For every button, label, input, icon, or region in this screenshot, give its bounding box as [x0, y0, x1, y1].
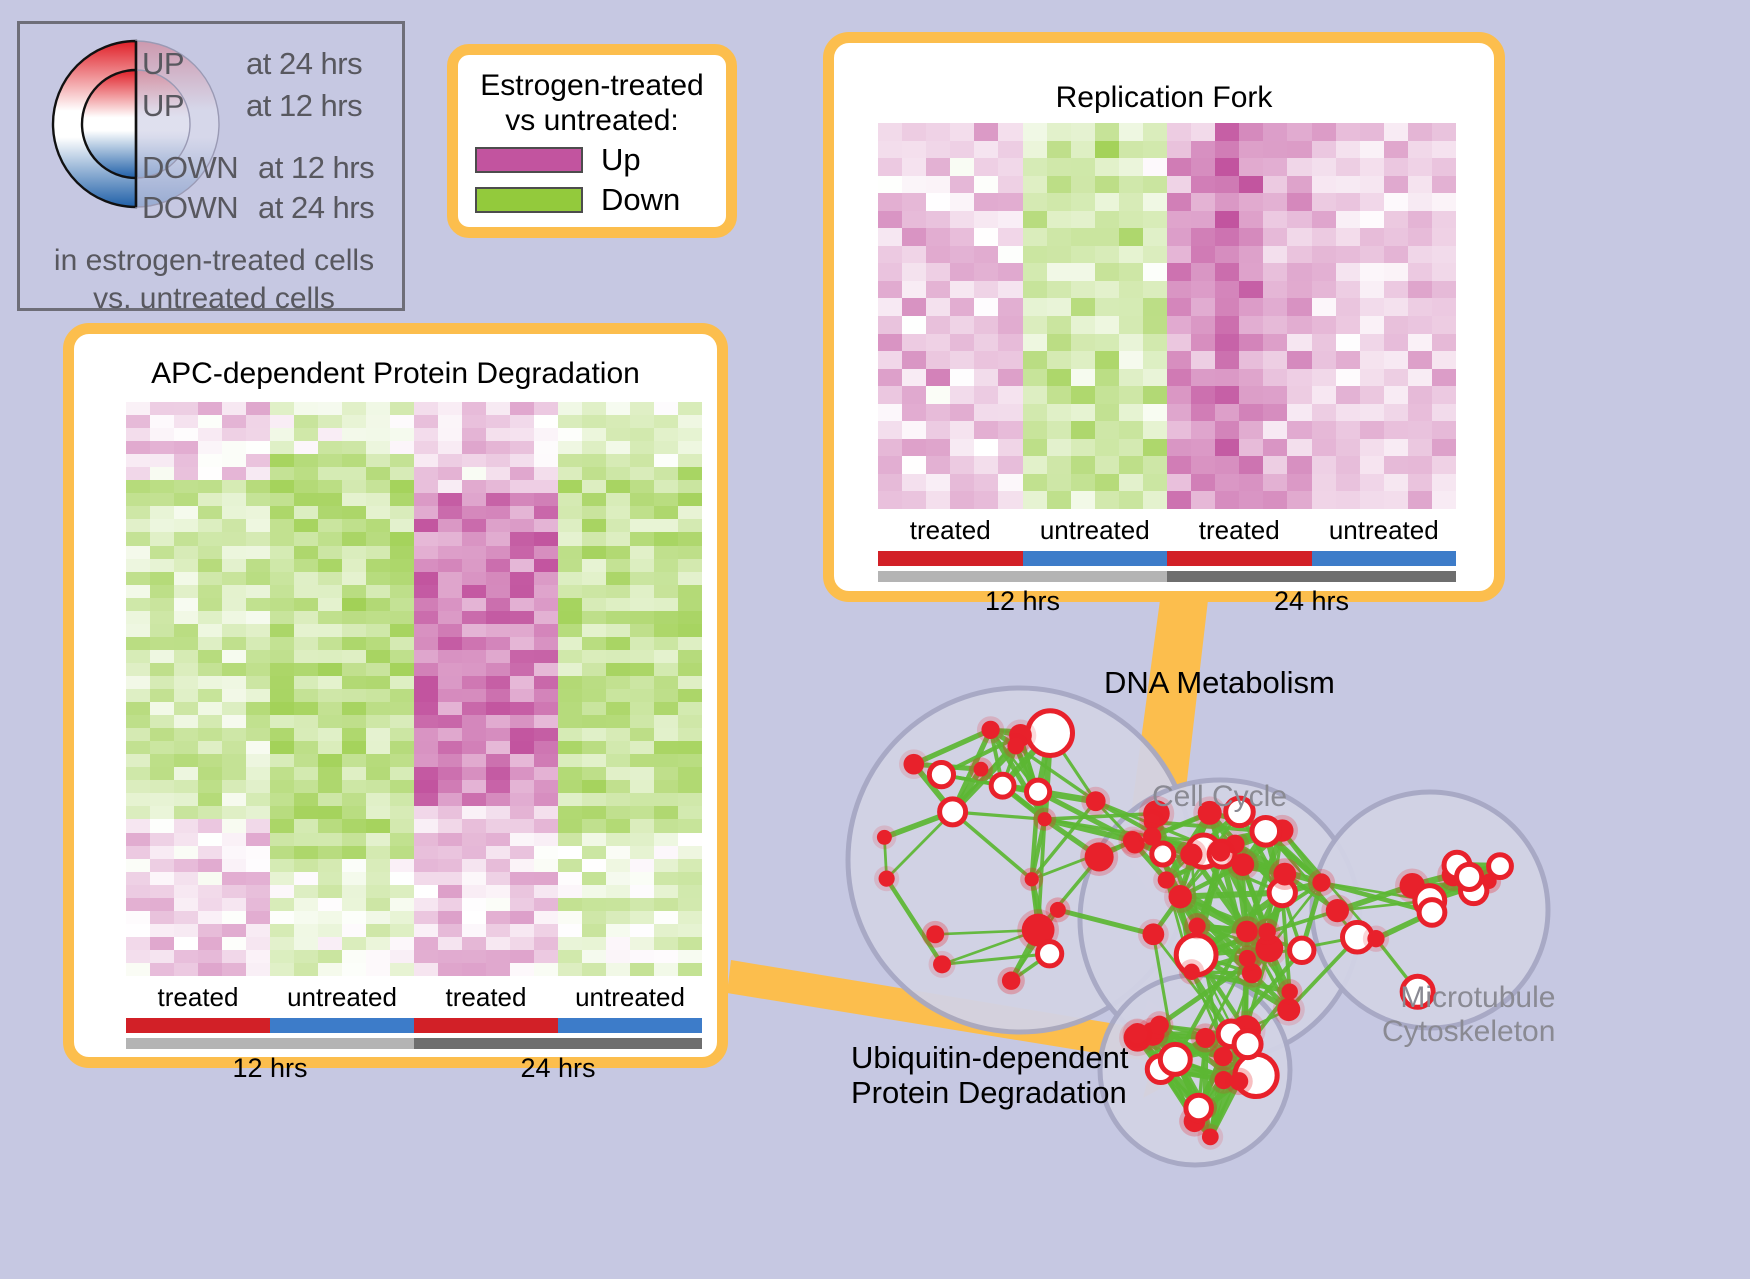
- apc-bar-treated-12: [126, 1018, 270, 1033]
- heatmap-cell: [174, 702, 198, 715]
- heatmap-cell: [390, 754, 414, 767]
- heatmap-cell: [270, 546, 294, 559]
- network-node-hollow[interactable]: [1186, 1095, 1212, 1121]
- heatmap-cell: [462, 819, 486, 832]
- heatmap-cell: [342, 859, 366, 872]
- heatmap-cell: [1408, 421, 1432, 439]
- ring-row-2-direction: DOWN: [142, 150, 238, 186]
- heatmap-cell: [510, 663, 534, 676]
- heatmap-cell: [198, 898, 222, 911]
- heatmap-cell: [950, 369, 974, 387]
- heatmap-cell: [486, 950, 510, 963]
- heatmap-cell: [926, 421, 950, 439]
- heatmap-cell: [1432, 193, 1456, 211]
- heatmap-cell: [998, 246, 1022, 264]
- heatmap-cell: [438, 754, 462, 767]
- heatmap-cell: [1023, 474, 1047, 492]
- heatmap-cell: [1360, 386, 1384, 404]
- network-node-hollow[interactable]: [991, 774, 1014, 797]
- heatmap-cell: [486, 885, 510, 898]
- heatmap-cell: [558, 702, 582, 715]
- heatmap-cell: [998, 456, 1022, 474]
- network-node[interactable]: [1258, 923, 1276, 941]
- heatmap-cell: [630, 872, 654, 885]
- heatmap-cell: [222, 415, 246, 428]
- heatmap-cell: [390, 689, 414, 702]
- heatmap-cell: [606, 402, 630, 415]
- heatmap-cell: [582, 754, 606, 767]
- network-node[interactable]: [1195, 1028, 1215, 1048]
- network-node-hollow[interactable]: [1290, 938, 1314, 962]
- network-node-hollow[interactable]: [1027, 780, 1050, 803]
- heatmap-cell: [630, 963, 654, 976]
- heatmap-cell: [342, 611, 366, 624]
- heatmap-cell: [510, 937, 534, 950]
- heatmap-cell: [486, 402, 510, 415]
- heatmap-cell: [630, 859, 654, 872]
- heatmap-cell: [534, 846, 558, 859]
- network-node[interactable]: [1002, 971, 1020, 989]
- heatmap-cell: [414, 872, 438, 885]
- heatmap-cell: [390, 780, 414, 793]
- heatmap-cell: [1336, 404, 1360, 422]
- heatmap-cell: [174, 428, 198, 441]
- network-node[interactable]: [1007, 738, 1024, 755]
- network-node-hollow[interactable]: [1038, 942, 1062, 966]
- heatmap-cell: [1191, 176, 1215, 194]
- heatmap-cell: [1384, 456, 1408, 474]
- heatmap-cell: [1071, 298, 1095, 316]
- network-node[interactable]: [1142, 923, 1164, 945]
- heatmap-cell: [342, 467, 366, 480]
- heatmap-cell: [462, 415, 486, 428]
- heatmap-cell: [1263, 491, 1287, 509]
- heatmap-cell: [1336, 123, 1360, 141]
- heatmap-cell: [270, 898, 294, 911]
- heatmap-cell: [318, 454, 342, 467]
- apc-time-label-24: 24 hrs: [414, 1053, 702, 1084]
- heatmap-cell: [462, 702, 486, 715]
- heatmap-cell: [198, 689, 222, 702]
- heatmap-cell: [1263, 123, 1287, 141]
- heatmap-cell: [294, 911, 318, 924]
- heatmap-cell: [1360, 193, 1384, 211]
- heatmap-cell: [1408, 334, 1432, 352]
- heatmap-cell: [366, 624, 390, 637]
- heatmap-cell: [1287, 439, 1311, 457]
- heatmap-cell: [1312, 158, 1336, 176]
- heatmap-cell: [318, 898, 342, 911]
- heatmap-cell: [678, 532, 702, 545]
- heatmap-cell: [1191, 404, 1215, 422]
- heatmap-cell: [1287, 421, 1311, 439]
- heatmap-cell: [318, 598, 342, 611]
- network-node[interactable]: [877, 830, 892, 845]
- heatmap-cell: [198, 480, 222, 493]
- heatmap-cell: [246, 924, 270, 937]
- heatmap-cell: [1239, 141, 1263, 159]
- heatmap-cell: [534, 402, 558, 415]
- heatmap-cell: [198, 637, 222, 650]
- heatmap-cell: [1215, 491, 1239, 509]
- heatmap-cell: [438, 454, 462, 467]
- heatmap-cell: [318, 637, 342, 650]
- heatmap-cell: [126, 741, 150, 754]
- heatmap-cell: [198, 741, 222, 754]
- heatmap-cell: [414, 480, 438, 493]
- heatmap-cell: [630, 767, 654, 780]
- network-node[interactable]: [1312, 873, 1330, 891]
- heatmap-cell: [462, 637, 486, 650]
- heatmap-cell: [878, 456, 902, 474]
- network-node[interactable]: [1127, 1023, 1148, 1044]
- heatmap-cell: [1023, 176, 1047, 194]
- heatmap-cell: [630, 559, 654, 572]
- heatmap-cell: [1239, 316, 1263, 334]
- heatmap-cell: [318, 650, 342, 663]
- heatmap-cell: [558, 937, 582, 950]
- heatmap-cell: [1360, 474, 1384, 492]
- heatmap-cell: [1239, 193, 1263, 211]
- heatmap-cell: [510, 911, 534, 924]
- heatmap-cell: [222, 833, 246, 846]
- heatmap-cell: [246, 872, 270, 885]
- heatmap-cell: [558, 467, 582, 480]
- apc-treatment-bar: [126, 1018, 702, 1033]
- heatmap-cell: [486, 480, 510, 493]
- heatmap-cell: [390, 650, 414, 663]
- heatmap-cell: [998, 263, 1022, 281]
- network-node[interactable]: [1150, 1016, 1169, 1035]
- network-node[interactable]: [1086, 791, 1106, 811]
- heatmap-cell: [630, 937, 654, 950]
- heatmap-cell: [390, 415, 414, 428]
- network-node[interactable]: [1180, 843, 1202, 865]
- heatmap-cell: [678, 519, 702, 532]
- heatmap-cell: [510, 806, 534, 819]
- heatmap-cell: [462, 806, 486, 819]
- heatmap-cell: [246, 467, 270, 480]
- heatmap-cell: [366, 833, 390, 846]
- heatmap-cell: [1215, 474, 1239, 492]
- heatmap-cell: [1312, 351, 1336, 369]
- heatmap-cell: [318, 402, 342, 415]
- heatmap-cell: [462, 572, 486, 585]
- network-node-hollow[interactable]: [1160, 1044, 1190, 1074]
- network-node[interactable]: [974, 762, 989, 777]
- heatmap-cell: [1023, 263, 1047, 281]
- heatmap-cell: [390, 793, 414, 806]
- heatmap-cell: [630, 467, 654, 480]
- network-node[interactable]: [1239, 950, 1256, 967]
- heatmap-cell: [654, 741, 678, 754]
- heatmap-cell: [150, 663, 174, 676]
- heatmap-cell: [510, 859, 534, 872]
- heatmap-cell: [486, 715, 510, 728]
- heatmap-cell: [174, 806, 198, 819]
- heatmap-cell: [606, 519, 630, 532]
- network-node-hollow[interactable]: [929, 763, 953, 787]
- heatmap-cell: [198, 663, 222, 676]
- network-node-hollow[interactable]: [1252, 817, 1280, 845]
- heatmap-cell: [1263, 421, 1287, 439]
- network-node[interactable]: [1230, 1072, 1249, 1091]
- heatmap-cell: [198, 754, 222, 767]
- heatmap-cell: [414, 689, 438, 702]
- heatmap-cell: [678, 611, 702, 624]
- heatmap-cell: [366, 728, 390, 741]
- heatmap-cell: [438, 689, 462, 702]
- network-node[interactable]: [1326, 899, 1349, 922]
- network-node[interactable]: [1189, 918, 1206, 935]
- heatmap-cell: [150, 572, 174, 585]
- heatmap-cell: [438, 532, 462, 545]
- heatmap-cell: [390, 585, 414, 598]
- heatmap-cell: [1287, 334, 1311, 352]
- heatmap-cell: [1023, 439, 1047, 457]
- heatmap-cell: [998, 334, 1022, 352]
- heatmap-cell: [974, 474, 998, 492]
- apc-group-label-2: treated: [414, 982, 558, 1013]
- heatmap-cell: [1071, 474, 1095, 492]
- heatmap-cell: [1336, 474, 1360, 492]
- heatmap-cell: [342, 637, 366, 650]
- heatmap-cell: [1119, 123, 1143, 141]
- heatmap-cell: [1432, 246, 1456, 264]
- heatmap-cell: [510, 728, 534, 741]
- heatmap-cell: [462, 741, 486, 754]
- heatmap-cell: [366, 715, 390, 728]
- heatmap-cell: [950, 211, 974, 229]
- heatmap-cell: [926, 141, 950, 159]
- heatmap-cell: [174, 506, 198, 519]
- heatmap-cell: [390, 728, 414, 741]
- heatmap-cell: [1191, 123, 1215, 141]
- heatmap-cell: [462, 767, 486, 780]
- heatmap-cell: [630, 819, 654, 832]
- heatmap-cell: [198, 819, 222, 832]
- heatmap-cell: [198, 493, 222, 506]
- heatmap-cell: [1095, 439, 1119, 457]
- heatmap-cell: [150, 559, 174, 572]
- heatmap-cell: [270, 715, 294, 728]
- heatmap-cell: [1360, 228, 1384, 246]
- heatmap-cell: [174, 872, 198, 885]
- heatmap-cell: [198, 702, 222, 715]
- network-node[interactable]: [1273, 863, 1296, 886]
- heatmap-cell: [462, 846, 486, 859]
- network-node[interactable]: [933, 955, 951, 973]
- heatmap-cell: [510, 950, 534, 963]
- heatmap-cell: [1143, 386, 1167, 404]
- network-node[interactable]: [981, 721, 999, 739]
- heatmap-cell: [998, 421, 1022, 439]
- heatmap-cell: [294, 793, 318, 806]
- network-node-hollow[interactable]: [1457, 864, 1482, 889]
- heatmap-cell: [318, 676, 342, 689]
- heatmap-cell: [510, 741, 534, 754]
- heatmap-cell: [582, 780, 606, 793]
- figure-root: UP at 24 hrs UP at 12 hrs DOWN at 12 hrs…: [0, 0, 1750, 1279]
- bar-untreated-24: [1312, 551, 1457, 566]
- heatmap-cell: [1239, 211, 1263, 229]
- heatmap-cell: [1143, 491, 1167, 509]
- heatmap-cell: [1095, 421, 1119, 439]
- network-node-hollow[interactable]: [940, 799, 966, 825]
- apc-time-labels: 12 hrs 24 hrs: [126, 1053, 702, 1084]
- heatmap-cell: [1071, 211, 1095, 229]
- heatmap-cell: [126, 767, 150, 780]
- heatmap-cell: [678, 728, 702, 741]
- heatmap-cell: [294, 885, 318, 898]
- network-node[interactable]: [1025, 872, 1039, 886]
- heatmap-cell: [1336, 263, 1360, 281]
- heatmap-cell: [678, 480, 702, 493]
- heatmap-cell: [606, 598, 630, 611]
- heatmap-cell: [486, 650, 510, 663]
- heatmap-cell: [1191, 211, 1215, 229]
- heatmap-cell: [174, 585, 198, 598]
- heatmap-cell: [222, 793, 246, 806]
- heatmap-cell: [246, 402, 270, 415]
- heatmap-cell: [654, 793, 678, 806]
- network-node[interactable]: [1085, 842, 1114, 871]
- network-node-hollow[interactable]: [1489, 855, 1512, 878]
- heatmap-cell: [974, 439, 998, 457]
- heatmap-cell: [270, 793, 294, 806]
- heatmap-cell: [678, 819, 702, 832]
- network-node[interactable]: [1038, 812, 1052, 826]
- heatmap-cell: [270, 506, 294, 519]
- heatmap-cell: [630, 493, 654, 506]
- heatmap-cell: [1384, 228, 1408, 246]
- heatmap-cell: [174, 859, 198, 872]
- heatmap-cell: [414, 780, 438, 793]
- heatmap-cell: [654, 859, 678, 872]
- heatmap-cell: [318, 546, 342, 559]
- fork-group-label-1: untreated: [1023, 515, 1168, 546]
- heatmap-cell: [126, 950, 150, 963]
- network-node[interactable]: [1050, 902, 1066, 918]
- heatmap-cell: [174, 689, 198, 702]
- heatmap-cell: [678, 859, 702, 872]
- heatmap-cell: [222, 676, 246, 689]
- heatmap-cell: [270, 767, 294, 780]
- heatmap-cell: [318, 441, 342, 454]
- heatmap-cell: [366, 585, 390, 598]
- heatmap-cell: [294, 898, 318, 911]
- heatmap-cell: [366, 611, 390, 624]
- heatmap-cell: [1167, 369, 1191, 387]
- heatmap-cell: [438, 506, 462, 519]
- heatmap-cell: [150, 846, 174, 859]
- heatmap-cell: [390, 480, 414, 493]
- heatmap-cell: [534, 676, 558, 689]
- heatmap-cell: [438, 598, 462, 611]
- heatmap-cell: [1071, 439, 1095, 457]
- network-node[interactable]: [1211, 842, 1230, 861]
- heatmap-cell: [1384, 316, 1408, 334]
- heatmap-cell: [150, 898, 174, 911]
- heatmap-cell: [1312, 176, 1336, 194]
- network-node[interactable]: [1281, 983, 1297, 999]
- heatmap-cell: [878, 158, 902, 176]
- heatmap-cell: [510, 467, 534, 480]
- heatmap-cell: [1239, 228, 1263, 246]
- heatmap-cell: [246, 493, 270, 506]
- heatmap-cell: [198, 780, 222, 793]
- heatmap-cell: [950, 176, 974, 194]
- heatmap-cell: [1167, 228, 1191, 246]
- heatmap-cell: [558, 728, 582, 741]
- heatmap-cell: [1287, 404, 1311, 422]
- heatmap-cell: [1432, 404, 1456, 422]
- ring-legend-footer: in estrogen-treated cells vs. untreated …: [20, 242, 408, 317]
- network-node[interactable]: [1158, 871, 1175, 888]
- heatmap-cell: [318, 585, 342, 598]
- heatmap-cell: [318, 467, 342, 480]
- heatmap-cell: [950, 158, 974, 176]
- heatmap-cell: [1312, 439, 1336, 457]
- heatmap-cell: [510, 441, 534, 454]
- network-node[interactable]: [1183, 964, 1199, 980]
- heatmap-cell: [654, 559, 678, 572]
- heatmap-cell: [606, 846, 630, 859]
- heatmap-cell: [1191, 281, 1215, 299]
- heatmap-cell: [1047, 193, 1071, 211]
- heatmap-cell: [582, 415, 606, 428]
- heatmap-cell: [950, 141, 974, 159]
- heatmap-cell: [1071, 176, 1095, 194]
- heatmap-cell: [270, 859, 294, 872]
- heatmap-cell: [678, 676, 702, 689]
- heatmap-cell: [558, 572, 582, 585]
- heatmap-cell: [534, 806, 558, 819]
- heatmap-cell: [1263, 404, 1287, 422]
- network-node[interactable]: [1367, 930, 1384, 947]
- heatmap-cell: [1167, 421, 1191, 439]
- heatmap-cell: [246, 833, 270, 846]
- heatmap-cell: [1432, 158, 1456, 176]
- network-node-hollow[interactable]: [1234, 1031, 1261, 1058]
- heatmap-cell: [606, 819, 630, 832]
- network-node[interactable]: [879, 871, 895, 887]
- heatmap-cell: [558, 663, 582, 676]
- heatmap-cell: [1143, 211, 1167, 229]
- heatmap-cell: [174, 650, 198, 663]
- heatmap-cell: [558, 898, 582, 911]
- network-node[interactable]: [903, 754, 924, 775]
- heatmap-cell: [222, 559, 246, 572]
- heatmap-cell: [126, 859, 150, 872]
- heatmap-cell: [1360, 263, 1384, 281]
- heatmap-cell: [1408, 141, 1432, 159]
- network-node[interactable]: [926, 925, 944, 943]
- heatmap-cell: [606, 506, 630, 519]
- heatmap-cell: [462, 754, 486, 767]
- heatmap-cell: [462, 898, 486, 911]
- heatmap-cell: [150, 806, 174, 819]
- heatmap-cell: [1191, 474, 1215, 492]
- network-node[interactable]: [1143, 827, 1161, 845]
- network-node-hollow[interactable]: [1419, 900, 1445, 926]
- heatmap-cell: [438, 702, 462, 715]
- heatmap-cell: [150, 532, 174, 545]
- network-node[interactable]: [1214, 1047, 1233, 1066]
- heatmap-cell: [174, 415, 198, 428]
- heatmap-cell: [1384, 141, 1408, 159]
- heatmap-cell: [878, 421, 902, 439]
